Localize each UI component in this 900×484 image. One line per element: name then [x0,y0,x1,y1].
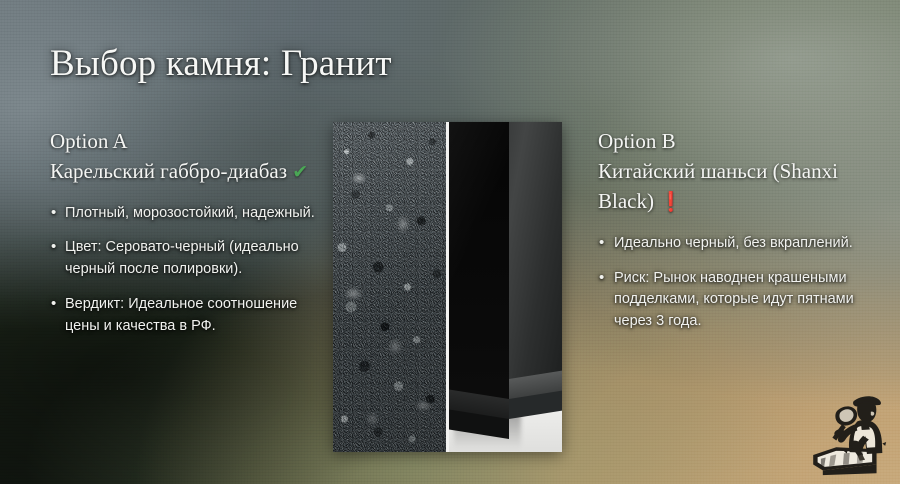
block-polished-sheen [449,122,509,399]
list-item: Идеально черный, без вкраплений. [598,233,868,255]
option-b-bullet-list: Идеально черный, без вкраплений. Риск: Р… [598,233,868,333]
option-a-label: Option A [50,129,128,153]
page-title: Выбор камня: Гранит [50,44,392,85]
list-item: Плотный, морозостойкий, надежный. [50,203,318,225]
list-item: Вердикт: Идеальное соотношение цены и ка… [50,294,318,338]
block-side-face [509,122,562,379]
option-a-name: Карельский габбро-диабаз [50,159,287,183]
stonemason-logo-icon [794,382,890,478]
option-a-heading: Option A Карельский габбро-диабаз ✔ [50,126,318,187]
list-item: Цвет: Серовато-черный (идеально черный п… [50,237,318,281]
option-a-column: Option A Карельский габбро-диабаз ✔ Плот… [50,126,318,350]
slide-canvas: Выбор камня: Гранит Option A Карельский … [0,0,900,484]
option-b-heading: Option B Китайский шаньси (Shanxi Black)… [598,126,868,217]
list-item: Риск: Рынок наводнен крашеными подделкам… [598,268,868,333]
option-b-column: Option B Китайский шаньси (Shanxi Black)… [598,126,868,346]
option-b-name: Китайский шаньси (Shanxi Black) [598,159,838,213]
option-b-label: Option B [598,129,676,153]
granite-shading [333,122,446,452]
granite-texture-panel [333,122,446,452]
exclamation-mark-icon: ❗ [659,191,683,213]
check-mark-icon: ✔ [292,161,308,183]
granite-comparison-photo [333,122,562,452]
black-granite-block-panel [446,122,562,452]
option-a-bullet-list: Плотный, морозостойкий, надежный. Цвет: … [50,203,318,338]
